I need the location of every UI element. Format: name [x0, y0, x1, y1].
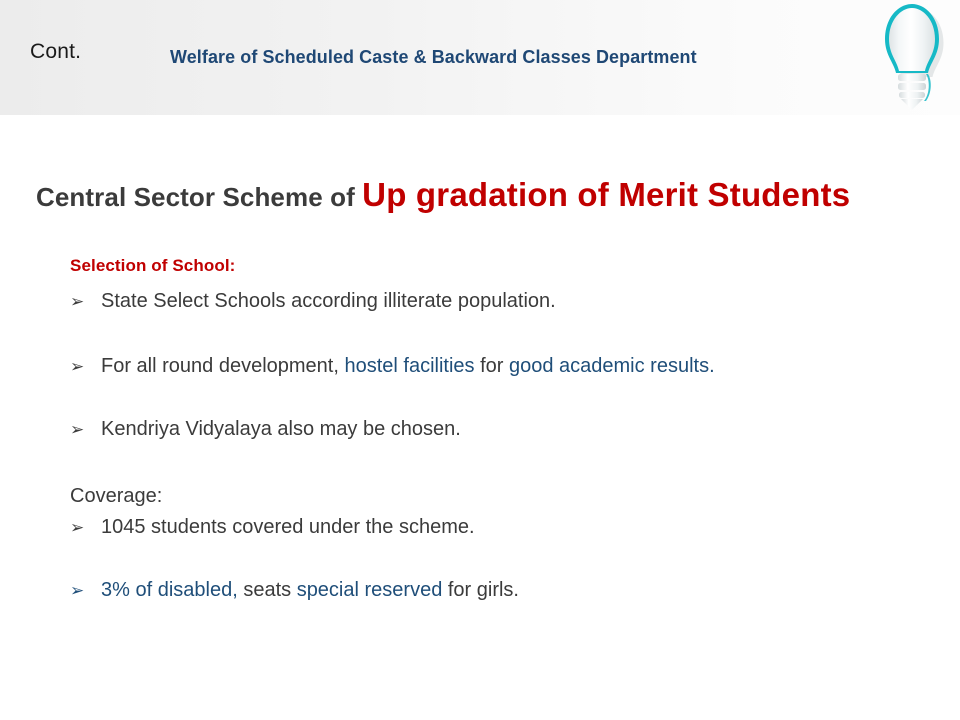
list-item-label: Kendriya Vidyalaya also may be chosen. — [101, 418, 461, 441]
lightbulb-icon — [866, 2, 958, 114]
highlight-good-academic-results: good academic results — [509, 355, 709, 377]
arrow-bullet-icon: ➢ — [70, 293, 101, 310]
arrow-bullet-icon: ➢ — [70, 421, 101, 438]
spacer — [70, 508, 930, 516]
list-item-text-segment: . — [709, 355, 715, 377]
list-item-text-segment: for girls. — [442, 579, 519, 601]
spacer — [70, 378, 930, 418]
list-item-label: For all round development, hostel facili… — [101, 355, 715, 378]
list-item-label: 3% of disabled, seats special reserved f… — [101, 579, 519, 602]
page-title: Central Sector Scheme of Up gradation of… — [36, 176, 850, 214]
section-heading-selection-of-school: Selection of School: — [70, 256, 930, 276]
arrow-bullet-icon: ➢ — [70, 358, 101, 375]
page-title-accent: Up gradation of Merit Students — [362, 176, 850, 213]
coverage-label: Coverage: — [70, 485, 930, 508]
spacer — [70, 441, 930, 485]
list-item-label: 1045 students covered under the scheme. — [101, 516, 475, 539]
list-item: ➢ For all round development, hostel faci… — [70, 355, 930, 378]
list-item: ➢ Kendriya Vidyalaya also may be chosen. — [70, 418, 930, 441]
department-title: Welfare of Scheduled Caste & Backward Cl… — [170, 46, 697, 68]
list-item-text-segment: for — [475, 355, 509, 377]
list-item-text-segment: For all round development, — [101, 355, 344, 377]
continuation-label: Cont. — [30, 40, 81, 64]
spacer — [70, 539, 930, 579]
arrow-bullet-icon: ➢ — [70, 519, 101, 536]
slide-header-band: Cont. Welfare of Scheduled Caste & Backw… — [0, 0, 960, 115]
list-item: ➢ State Select Schools according illiter… — [70, 290, 930, 313]
page-title-lead: Central Sector Scheme of — [36, 182, 362, 212]
list-item: ➢ 3% of disabled, seats special reserved… — [70, 579, 930, 602]
list-item: ➢ 1045 students covered under the scheme… — [70, 516, 930, 539]
arrow-bullet-icon: ➢ — [70, 582, 101, 599]
slide-body: Selection of School: ➢ State Select Scho… — [70, 256, 930, 602]
spacer — [70, 313, 930, 355]
highlight-special-reserved: special reserved — [297, 579, 443, 601]
list-item-label: State Select Schools according illiterat… — [101, 290, 556, 313]
list-item-text-segment: seats — [238, 579, 297, 601]
highlight-hostel-facilities: hostel facilities — [344, 355, 474, 377]
highlight-3-percent-disabled: 3% of disabled, — [101, 579, 238, 601]
